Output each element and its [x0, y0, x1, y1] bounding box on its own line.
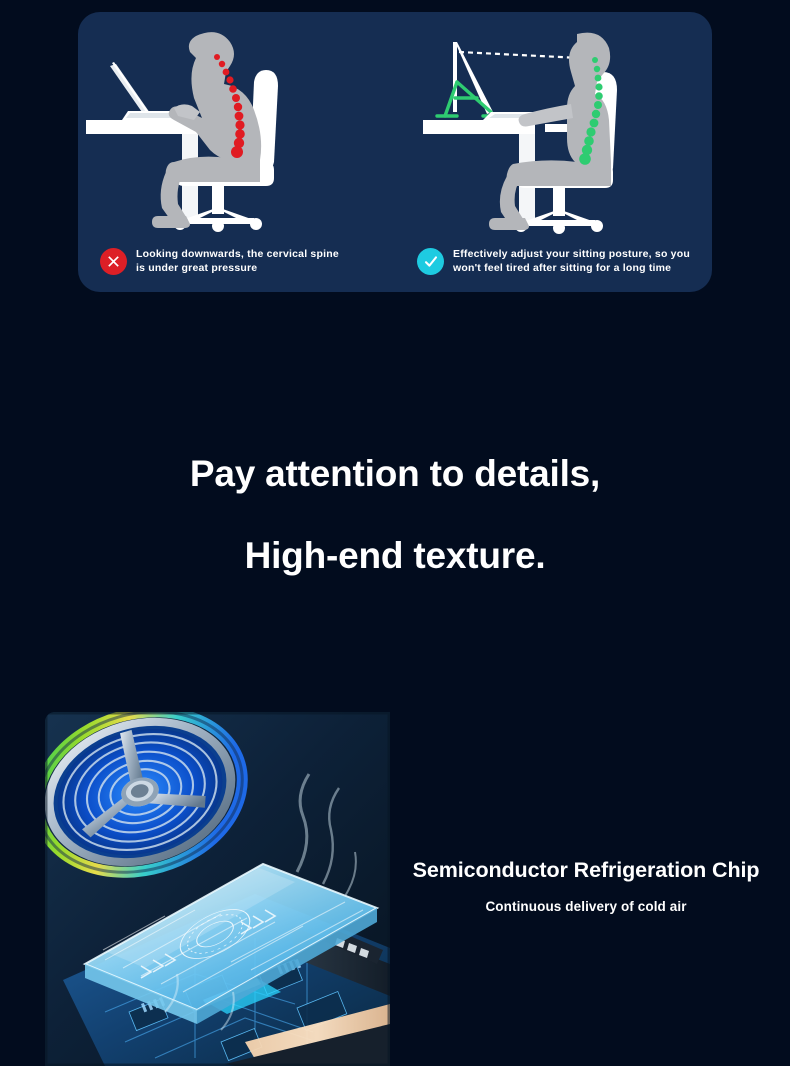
good-caption-line1: Effectively adjust your sitting posture,…	[453, 248, 690, 260]
laptop-stand	[437, 82, 499, 116]
headline-line-2: High-end texture.	[0, 537, 790, 574]
good-posture-caption-text: Effectively adjust your sitting posture,…	[453, 247, 690, 276]
bad-posture-caption-text: Looking downwards, the cervical spine is…	[136, 247, 339, 276]
x-icon	[100, 248, 127, 275]
check-icon	[417, 248, 444, 275]
eye-line-dashed	[459, 52, 580, 58]
ergonomics-panel: Looking downwards, the cervical spine is…	[78, 12, 712, 292]
good-posture-caption: Effectively adjust your sitting posture,…	[417, 247, 709, 276]
product-title: Semiconductor Refrigeration Chip	[396, 858, 776, 883]
person-hunched-at-laptop-illustration	[78, 12, 395, 244]
bad-posture-section: Looking downwards, the cervical spine is…	[78, 12, 395, 292]
bad-caption-line1: Looking downwards, the cervical spine	[136, 248, 339, 260]
person-upright-with-laptop-stand-illustration	[395, 12, 712, 244]
headline-line-1: Pay attention to details,	[0, 455, 790, 492]
bad-caption-line2: is under great pressure	[136, 262, 257, 274]
bad-posture-caption: Looking downwards, the cervical spine is…	[100, 247, 392, 276]
headline-block: Pay attention to details, High-end textu…	[0, 455, 790, 574]
cooling-pad-semiconductor-chip-photo	[45, 712, 390, 1066]
good-caption-line2: won't feel tired after sitting for a lon…	[453, 262, 671, 274]
product-subtitle: Continuous delivery of cold air	[396, 899, 776, 914]
product-caption-block: Semiconductor Refrigeration Chip Continu…	[396, 858, 776, 914]
good-posture-section: Effectively adjust your sitting posture,…	[395, 12, 712, 292]
